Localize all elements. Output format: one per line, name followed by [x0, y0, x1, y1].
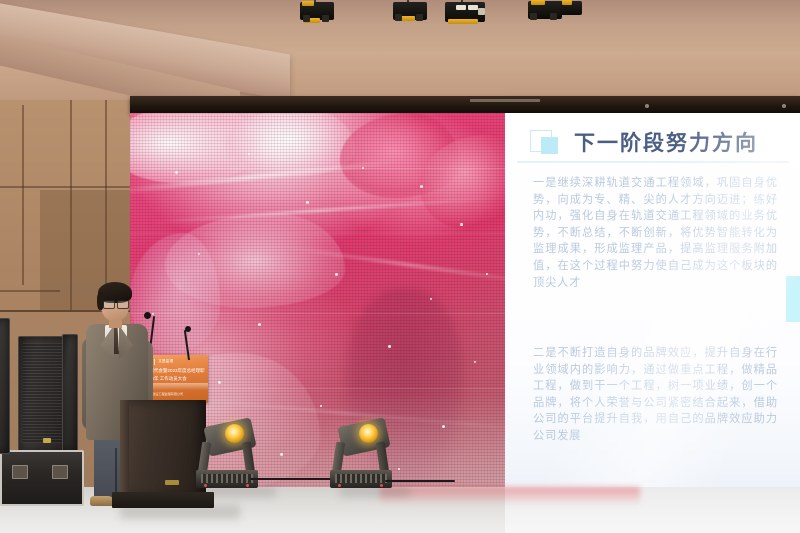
- wall-panel-seam: [0, 186, 130, 188]
- truss-fixture-dot: [645, 104, 649, 108]
- wall-panel-seam: [22, 105, 24, 285]
- glasses-bridge: [103, 300, 128, 308]
- podium-nameplate: [165, 480, 179, 485]
- pa-speaker-secondary: [62, 334, 78, 452]
- floor-shadow: [205, 487, 275, 497]
- slide-accent-bar: [786, 276, 800, 322]
- stage-light-cable: [385, 480, 455, 482]
- slide-header: 下一阶段努力方向: [530, 127, 758, 157]
- pa-speaker-right-stack: [0, 318, 10, 454]
- slide-paragraph-2: 二是不断打造自身的品牌效应，提升自身在行业领域内的影响力，通过做重点工程，做精品…: [533, 345, 778, 445]
- projection-screen: 下一阶段努力方向 一是继续深耕轨道交通工程领域，巩固自身优势，向成为专、精、尖的…: [505, 113, 800, 513]
- overhead-truss-bar: [130, 96, 800, 113]
- conference-stage-photo: 下一阶段努力方向 一是继续深耕轨道交通工程领域，巩固自身优势，向成为专、精、尖的…: [0, 0, 800, 533]
- slide-title: 下一阶段努力方向: [574, 127, 758, 157]
- slide-paragraph-1: 一是继续深耕轨道交通工程领域，巩固自身优势，向成为专、精、尖的人才方向迈进；练好…: [533, 175, 778, 291]
- podium-base: [112, 492, 214, 508]
- podium-body: [120, 400, 206, 498]
- microphone-head-secondary: [185, 326, 191, 332]
- road-case: [0, 450, 84, 506]
- truss-fixture-dot: [782, 104, 786, 108]
- truss-highlight: [470, 99, 540, 102]
- wall-panel-seam: [0, 290, 60, 292]
- podium-edge: [120, 400, 129, 498]
- square-filled-icon: [541, 137, 558, 154]
- podium-logo-text-2: 文昌监理: [158, 359, 173, 364]
- slide-header-rule: [517, 161, 789, 163]
- floor-shadow: [340, 487, 410, 497]
- floor-red-reflection: [380, 487, 640, 505]
- screen-sheen: [505, 113, 800, 513]
